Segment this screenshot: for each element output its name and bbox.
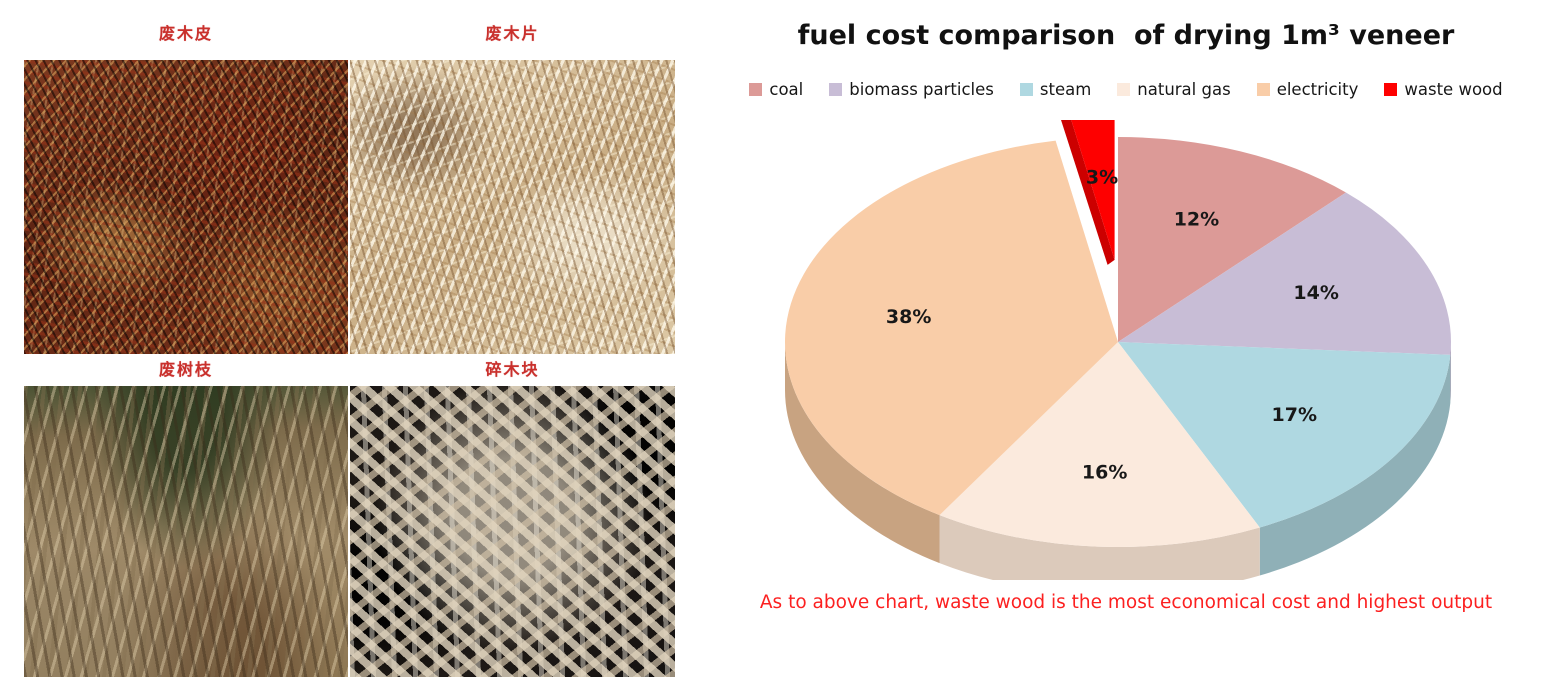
photo-caption-waste-wood-chips: 废木片: [350, 24, 675, 44]
texture-waste-wood-chips: [350, 60, 675, 354]
legend-swatch-electricity: [1257, 83, 1270, 96]
legend-item-coal[interactable]: coal: [749, 80, 803, 99]
pie-label-coal: 12%: [1174, 209, 1219, 231]
photo-image-crushed-wood-blocks: [350, 386, 675, 677]
legend-swatch-natural-gas: [1117, 83, 1130, 96]
texture-waste-bark: [24, 60, 348, 354]
photo-cell-waste-wood-chips: 废木片: [350, 24, 675, 354]
legend-label-natural-gas: natural gas: [1137, 80, 1230, 99]
photo-caption-waste-branches: 废树枝: [24, 360, 348, 380]
legend-label-electricity: electricity: [1277, 80, 1359, 99]
legend-item-natural-gas[interactable]: natural gas: [1117, 80, 1230, 99]
photo-cell-waste-branches: 废树枝: [24, 360, 348, 677]
pie-label-steam: 17%: [1272, 404, 1317, 426]
photo-image-waste-branches: [24, 386, 348, 677]
photo-image-waste-wood-chips: [350, 60, 675, 354]
legend-item-electricity[interactable]: electricity: [1257, 80, 1359, 99]
photo-image-waste-bark: [24, 60, 348, 354]
pie-chart-svg: 12%14%17%16%38%3%: [700, 120, 1552, 580]
pie-chart: 12%14%17%16%38%3%: [700, 120, 1552, 580]
legend-label-biomass-particles: biomass particles: [849, 80, 994, 99]
pie-label-biomass-particles: 14%: [1293, 282, 1338, 304]
legend-item-waste-wood[interactable]: waste wood: [1384, 80, 1502, 99]
legend-swatch-waste-wood: [1384, 83, 1397, 96]
chart-caption: As to above chart, waste wood is the mos…: [700, 592, 1552, 613]
photo-cell-crushed-wood-blocks: 碎木块: [350, 360, 675, 677]
photo-caption-waste-bark: 废木皮: [24, 24, 348, 44]
legend-item-biomass-particles[interactable]: biomass particles: [829, 80, 994, 99]
photo-caption-crushed-wood-blocks: 碎木块: [350, 360, 675, 380]
pie-label-waste-wood: 3%: [1086, 167, 1118, 189]
pie-label-electricity: 38%: [886, 306, 931, 328]
legend-label-waste-wood: waste wood: [1404, 80, 1502, 99]
photo-cell-waste-bark: 废木皮: [24, 24, 348, 354]
legend-swatch-coal: [749, 83, 762, 96]
chart-legend: coalbiomass particlessteamnatural gasele…: [700, 80, 1552, 99]
chart-title: fuel cost comparison of drying 1m³ venee…: [700, 20, 1552, 51]
pie-label-natural-gas: 16%: [1082, 461, 1127, 483]
photo-collage: 废木皮 废木片 废树枝 碎木块: [0, 0, 700, 697]
texture-waste-branches: [24, 386, 348, 677]
legend-item-steam[interactable]: steam: [1020, 80, 1091, 99]
legend-label-steam: steam: [1040, 80, 1091, 99]
texture-crushed-wood-blocks: [350, 386, 675, 677]
chart-panel: fuel cost comparison of drying 1m³ venee…: [700, 0, 1552, 697]
legend-swatch-biomass-particles: [829, 83, 842, 96]
legend-swatch-steam: [1020, 83, 1033, 96]
legend-label-coal: coal: [769, 80, 803, 99]
